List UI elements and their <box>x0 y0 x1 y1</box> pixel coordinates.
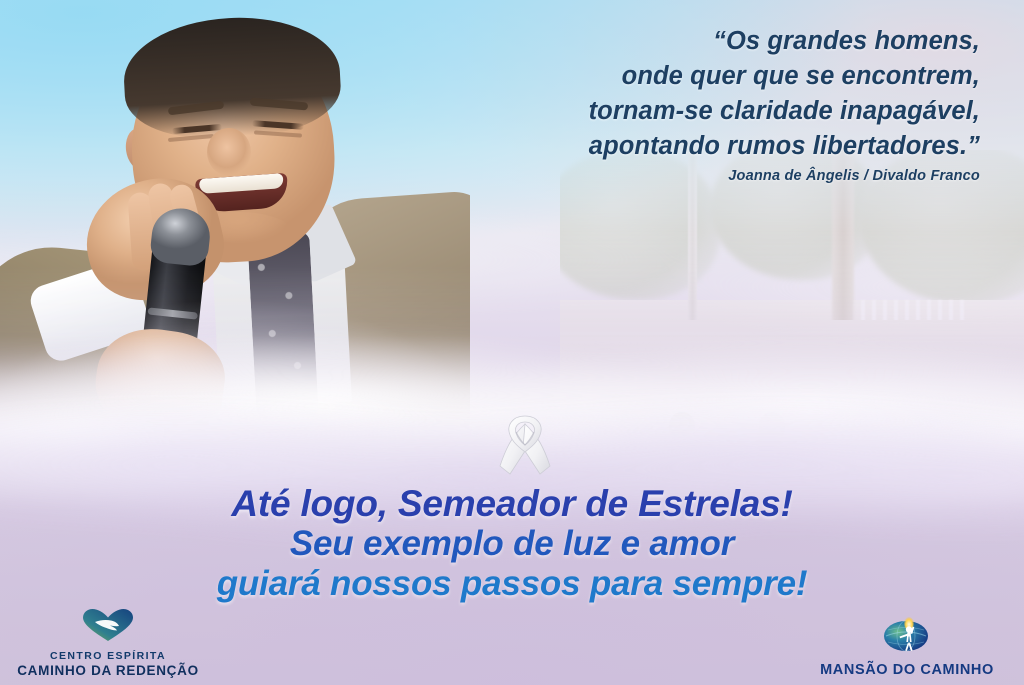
quote-line-4: apontando rumos libertadores.” <box>380 129 980 164</box>
hair <box>121 12 343 141</box>
background-photo-two-walkers <box>560 150 1024 440</box>
logo-centro-espirita: CENTRO ESPÍRITA CAMINHO DA REDENÇÃO <box>8 608 208 679</box>
logo-right-line-1: MANSÃO DO CAMINHO <box>800 662 1014 679</box>
tribute-headline: Até logo, Semeador de Estrelas! Seu exem… <box>0 484 1024 604</box>
tribute-quote: “Os grandes homens, onde quer que se enc… <box>380 24 980 164</box>
shirt-cuff <box>27 257 154 365</box>
quote-attribution: Joanna de Ângelis / Divaldo Franco <box>380 168 980 184</box>
face <box>126 33 339 267</box>
quote-line-1: “Os grandes homens, <box>380 24 980 59</box>
cloud-band-upper <box>0 200 1024 350</box>
hand-holding-microphone <box>89 322 230 443</box>
smiling-mouth <box>195 173 289 213</box>
quote-line-2: onde quer que se encontrem, <box>380 59 980 94</box>
heart-hand-icon <box>8 608 208 647</box>
logo-left-line-2: CAMINHO DA REDENÇÃO <box>8 663 208 679</box>
quote-line-3: tornam-se claridade inapagável, <box>380 94 980 129</box>
logo-mansao-do-caminho: MANSÃO DO CAMINHO <box>800 614 1014 679</box>
headline-line-1: Até logo, Semeador de Estrelas! <box>0 484 1024 524</box>
hand-on-chin <box>74 166 233 312</box>
logo-left-line-1: CENTRO ESPÍRITA <box>8 650 208 663</box>
headline-line-2: Seu exemplo de luz e amor <box>0 524 1024 564</box>
globe-figure-torch-icon <box>800 614 1014 659</box>
mourning-ribbon-icon <box>486 408 564 486</box>
microphone <box>136 234 207 407</box>
memorial-poster: “Os grandes homens, onde quer que se enc… <box>0 0 1024 685</box>
necktie <box>247 232 319 420</box>
headline-line-3: guiará nossos passos para sempre! <box>0 564 1024 604</box>
